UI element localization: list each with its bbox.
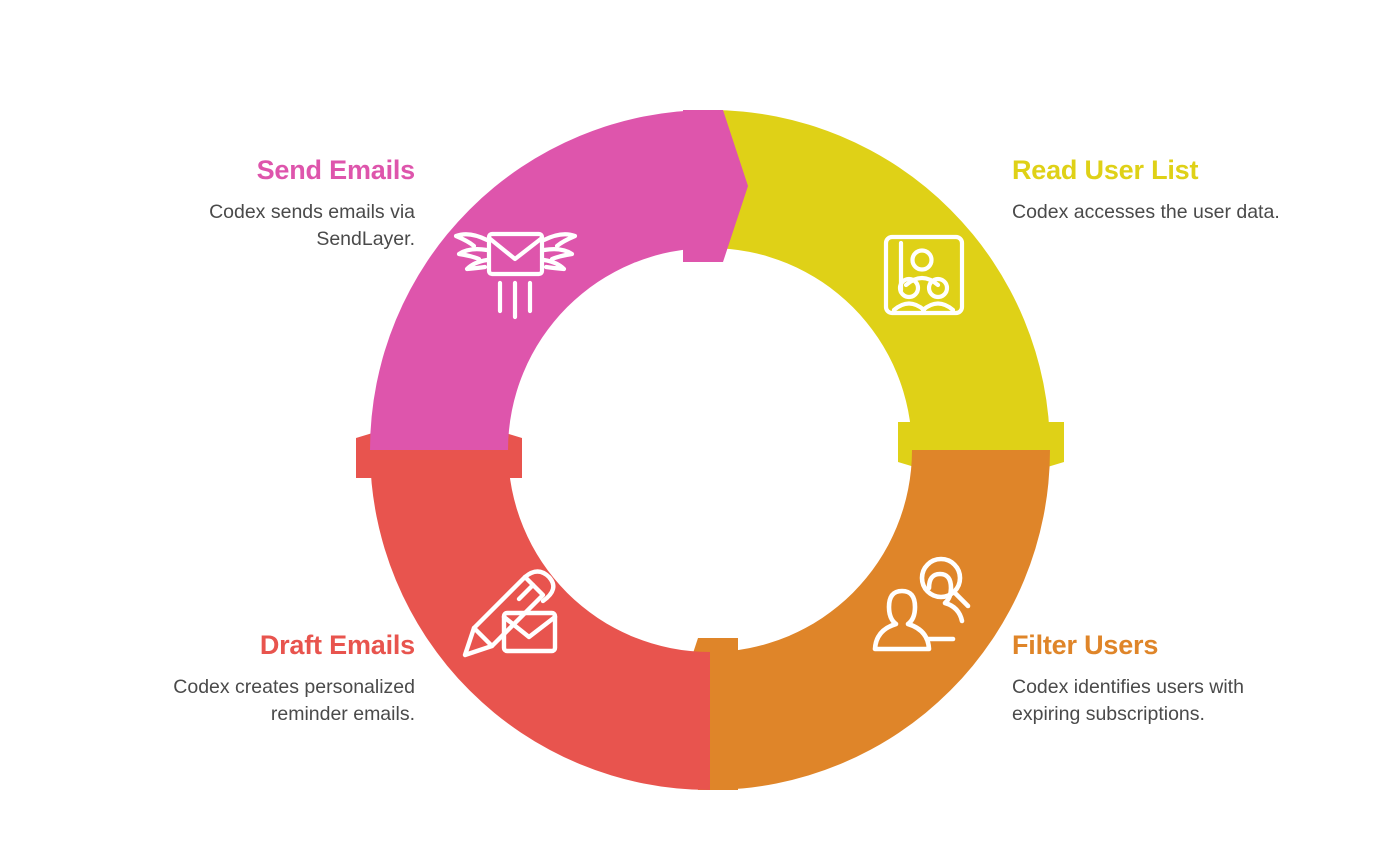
step-title-send-emails: Send Emails (115, 155, 415, 186)
segment-filter-users[interactable] (673, 450, 1050, 790)
segment-send-emails[interactable] (370, 110, 748, 450)
step-description-send-emails: Codex sends emails via SendLayer. (115, 199, 415, 253)
step-title-draft-emails: Draft Emails (115, 630, 415, 661)
step-title-filter-users: Filter Users (1012, 630, 1312, 661)
step-label-draft-emails: Draft Emails Codex creates personalized … (115, 630, 415, 728)
segment-draft-emails[interactable] (356, 413, 710, 790)
step-description-draft-emails: Codex creates personalized reminder emai… (115, 674, 415, 728)
step-title-read-user-list: Read User List (1012, 155, 1312, 186)
step-description-filter-users: Codex identifies users with expiring sub… (1012, 674, 1312, 728)
cycle-diagram-canvas: Send Emails Codex sends emails via SendL… (0, 0, 1400, 850)
step-label-read-user-list: Read User List Codex accesses the user d… (1012, 155, 1312, 226)
step-description-read-user-list: Codex accesses the user data. (1012, 199, 1312, 226)
step-label-filter-users: Filter Users Codex identifies users with… (1012, 630, 1312, 728)
step-label-send-emails: Send Emails Codex sends emails via SendL… (115, 155, 415, 253)
